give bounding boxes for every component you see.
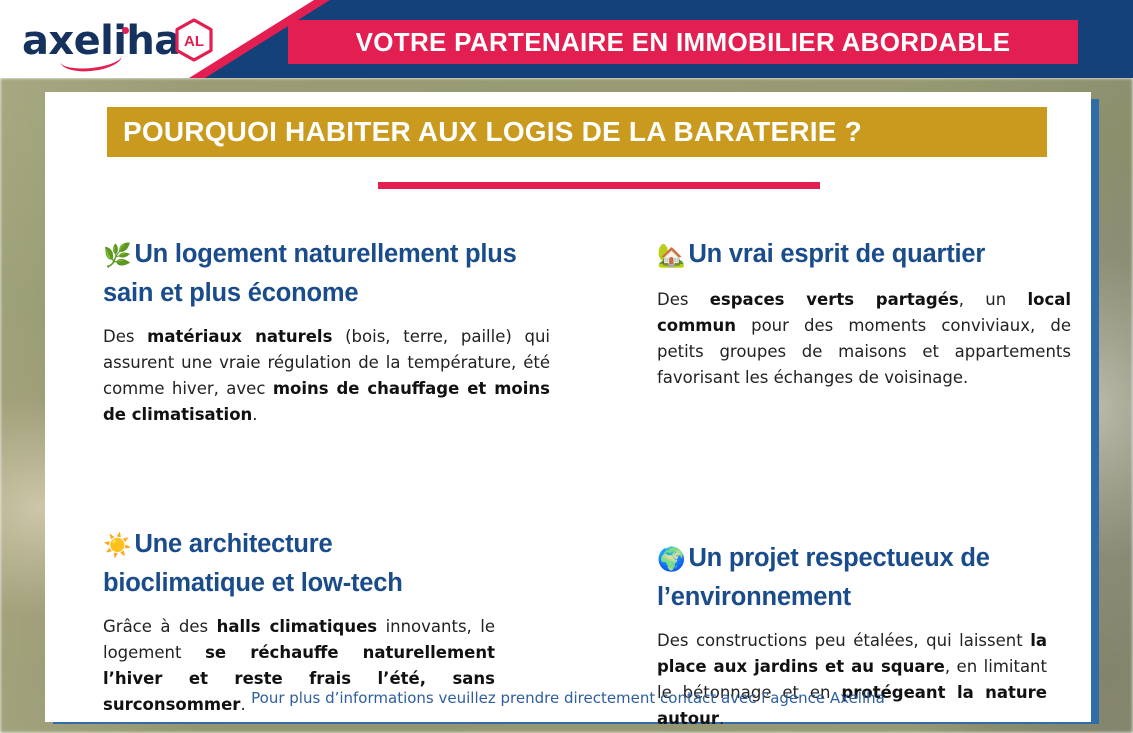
footer-contact-note: Pour plus d’informations veuillez prendr… xyxy=(45,689,1091,707)
benefit-heading-3: ☀️Une architecture bioclimatique et low-… xyxy=(103,526,495,602)
herb-icon: 🌿 xyxy=(103,238,131,275)
benefit-heading-1: 🌿Un logement naturellement plus sain et … xyxy=(103,236,550,312)
benefits-grid: 🌿Un logement naturellement plus sain et … xyxy=(45,222,1091,732)
axeliha-logo[interactable]: axeliha AL xyxy=(22,16,272,68)
logo-hexagon-badge-icon: AL xyxy=(172,18,216,62)
page-header: axeliha AL VOTRE PARTENAIRE EN IMMOBILIE… xyxy=(0,0,1133,78)
page-title: POURQUOI HABITER AUX LOGIS DE LA BARATER… xyxy=(123,116,862,148)
content-card: POURQUOI HABITER AUX LOGIS DE LA BARATER… xyxy=(45,92,1091,722)
benefit-body-2: Des espaces verts partagés, un local com… xyxy=(657,287,1071,391)
tagline-text: VOTRE PARTENAIRE EN IMMOBILIER ABORDABLE xyxy=(356,27,1011,58)
benefit-block-4: 🌍Un projet respectueux de l’environnemen… xyxy=(639,428,1119,732)
benefit-block-2: 🏡Un vrai esprit de quartier Des espaces … xyxy=(639,222,1119,428)
benefit-heading-text-3: Une architecture bioclimatique et low-te… xyxy=(103,530,403,597)
benefit-block-1: 🌿Un logement naturellement plus sain et … xyxy=(103,222,623,428)
logo-dot-icon xyxy=(122,27,129,34)
benefit-heading-text-4: Un projet respectueux de l’environnement xyxy=(657,544,990,611)
svg-text:AL: AL xyxy=(184,33,204,50)
benefit-body-4: Des constructions peu étalées, qui laiss… xyxy=(657,628,1047,732)
title-underline-rule xyxy=(378,182,820,189)
logo-swoosh-icon xyxy=(59,43,123,74)
benefit-heading-2: 🏡Un vrai esprit de quartier xyxy=(657,236,1071,275)
benefit-heading-text-2: Un vrai esprit de quartier xyxy=(688,240,985,268)
benefit-body-1: Des matériaux naturels (bois, terre, pai… xyxy=(103,324,550,428)
benefit-block-3: ☀️Une architecture bioclimatique et low-… xyxy=(103,428,623,732)
tagline-band: VOTRE PARTENAIRE EN IMMOBILIER ABORDABLE xyxy=(288,20,1078,64)
house-with-garden-icon: 🏡 xyxy=(657,238,685,275)
benefit-heading-text-1: Un logement naturellement plus sain et p… xyxy=(103,240,517,307)
sun-icon: ☀️ xyxy=(103,528,131,565)
benefit-heading-4: 🌍Un projet respectueux de l’environnemen… xyxy=(657,540,1047,616)
section-title-bar: POURQUOI HABITER AUX LOGIS DE LA BARATER… xyxy=(107,107,1047,157)
globe-europe-africa-icon: 🌍 xyxy=(657,542,685,579)
